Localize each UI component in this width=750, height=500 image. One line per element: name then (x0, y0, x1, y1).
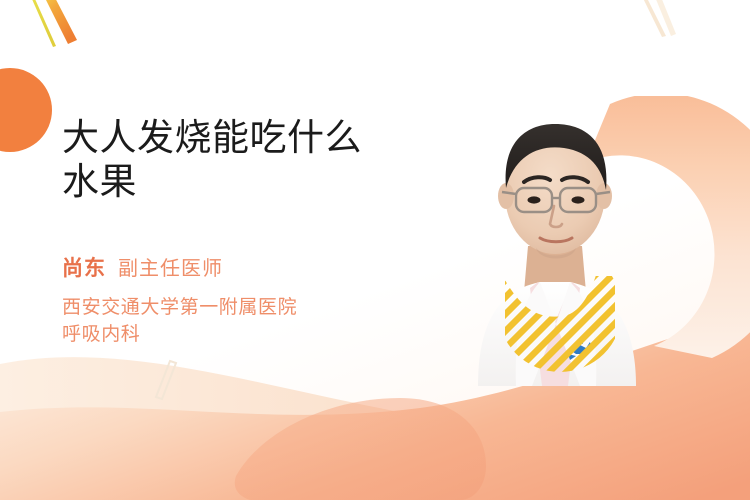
doctor-video-card: 大人发烧能吃什么 水果 尚东副主任医师 西安交通大学第一附属医院 呼吸内科 (0, 0, 750, 500)
cream-diagonal-outline (156, 361, 176, 399)
doctor-identity-line: 尚东副主任医师 (62, 252, 422, 282)
doctor-affiliation: 西安交通大学第一附属医院 呼吸内科 (62, 294, 422, 348)
eye-left (528, 196, 541, 203)
bottom-left-ribbon (140, 355, 200, 410)
page-title: 大人发烧能吃什么 水果 (62, 116, 422, 204)
text-column: 大人发烧能吃什么 水果 尚东副主任医师 西安交通大学第一附属医院 呼吸内科 (62, 116, 422, 348)
doctor-name: 尚东 (62, 257, 106, 280)
eye-right (572, 196, 585, 203)
doctor-professional-title: 副主任医师 (118, 258, 223, 280)
top-left-ribbon-group (24, 0, 134, 66)
orange-diagonal-ribbon (41, 0, 77, 44)
top-right-ribbon-group (620, 0, 710, 56)
ear-right (596, 183, 612, 209)
yellow-striped-circle (505, 276, 615, 376)
